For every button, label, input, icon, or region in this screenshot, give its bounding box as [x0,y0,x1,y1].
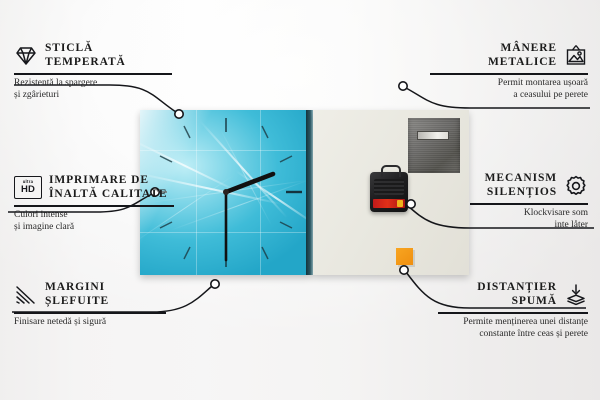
hatched-edge-icon [14,283,38,307]
feature-desc-line-1: Rezistentă la spargere [14,78,172,90]
feature-title-line-1: STICLĂ [45,42,126,56]
feature-metal-hangers: MÂNERE METALICE Permit montarea ușoară a… [430,42,588,102]
feature-title-line-2: SPUMĂ [477,295,557,309]
infographic-canvas: STICLĂ TEMPERATĂ Rezistentă la spargere … [0,0,600,400]
feature-desc-line-2: a ceasului pe perete [430,90,588,102]
feature-desc-line-2: și zgârieturi [14,90,172,102]
ultra-hd-icon-main: HD [21,185,35,195]
diamond-icon [14,44,38,68]
feature-tempered-glass: STICLĂ TEMPERATĂ Rezistentă la spargere … [14,42,172,102]
feature-title-line-2: METALICE [488,56,557,70]
feature-rule [14,312,166,314]
feature-desc-line-2: constante între ceas și perete [438,329,588,341]
feature-title-line-2: ÎNALTĂ CALITATE [49,188,167,202]
feature-desc-line-1: Permit montarea ușoară [430,78,588,90]
feature-rule [430,73,588,75]
feature-rule [14,73,172,75]
feature-title-line-1: MECANISM [485,172,557,186]
feature-rule [470,203,588,205]
feature-hd-print: ultra HD IMPRIMARE DE ÎNALTĂ CALITATE Cu… [14,174,174,234]
feature-title-line-1: MÂNERE [488,42,557,56]
feature-title-line-2: SILENȚIOS [485,186,557,200]
feature-silent-mechanism: MECANISM SILENȚIOS Klockvisare som inte … [470,172,588,232]
feature-desc-line-1: Permite menținerea unei distanțe [438,317,588,329]
feature-title-line-1: DISTANȚIER [477,281,557,295]
feature-title-line-2: ȘLEFUITE [45,295,109,309]
feature-desc-line-1: Culori intense [14,210,174,222]
feature-title-line-1: MARGINI [45,281,109,295]
ultra-hd-icon: ultra HD [14,176,42,199]
feature-desc-line-2: inte låter [470,220,588,232]
press-down-layer-icon [564,283,588,307]
feature-title-line-1: IMPRIMARE DE [49,174,167,188]
feature-desc-line-1: Finisare netedă și sigură [14,317,166,329]
feature-rule [438,312,588,314]
feature-desc-line-2: și imagine clară [14,222,174,234]
feature-polished-edges: MARGINI ȘLEFUITE Finisare netedă și sigu… [14,281,166,329]
feature-desc-line-1: Klockvisare som [470,208,588,220]
feature-foam-spacer: DISTANȚIER SPUMĂ Permite menținerea unei… [438,281,588,341]
feature-rule [14,205,174,207]
gear-icon [564,174,588,198]
feature-title-line-2: TEMPERATĂ [45,56,126,70]
hanging-frame-icon [564,44,588,68]
